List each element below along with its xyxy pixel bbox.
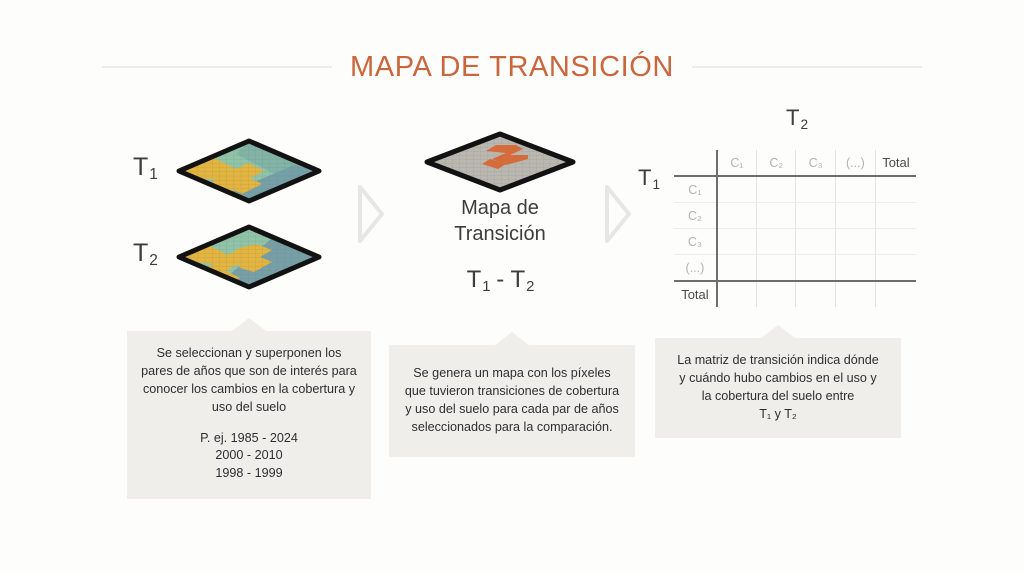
note-matrix-meaning: La matriz de transición indica dónde y c… [655,338,901,438]
note-select-years-example-2: 2000 - 2010 [141,447,357,465]
matrix-table: C₁ C₂ C₃ (...) Total C₁ C₂ [674,150,916,307]
matrix-cell [757,229,796,255]
transition-matrix: T2 T1 C₁ C₂ C₃ (...) Total C₁ C₂ [636,105,916,305]
title-rule-right [692,66,922,68]
matrix-row-header-3: (...) [674,255,717,282]
transition-map-caption-line2: Transición [380,222,620,248]
matrix-cell [757,203,796,229]
note-generate-map-body: Se genera un mapa con los píxeles que tu… [403,365,621,437]
matrix-cell [835,229,875,255]
matrix-cell [875,255,916,282]
matrix-col-header-total: Total [875,150,916,176]
matrix-cell [757,176,796,203]
matrix-row-header-1: C₂ [674,203,717,229]
matrix-col-header-2: C₃ [796,150,835,176]
matrix-cell [835,203,875,229]
note-matrix-meaning-line2: y cuándo hubo cambios en el uso y [679,370,876,388]
matrix-row: (...) [674,255,916,282]
raster-transition-map [424,131,576,193]
transition-map-caption-line1: Mapa de [380,196,620,222]
transition-map-formula: T1 - T2 [380,268,620,292]
matrix-cell [796,203,835,229]
matrix-corner-cell [674,150,717,176]
matrix-cell [835,281,875,307]
raster-layer-t2 [176,224,322,290]
note-select-years-example-1: P. ej. 1985 - 2024 [141,430,357,448]
matrix-cell [835,255,875,282]
matrix-cell [875,229,916,255]
note-generate-map: Se genera un mapa con los píxeles que tu… [389,345,635,457]
note-pointer-icon [495,332,529,345]
matrix-cell [717,281,757,307]
note-select-years: Se seleccionan y superponen los pares de… [127,331,371,499]
matrix-col-header-1: C₂ [757,150,796,176]
note-matrix-meaning-line3: la cobertura del suelo entre [702,388,855,406]
matrix-cell [717,203,757,229]
matrix-cell [757,281,796,307]
layer-label-t2: T2 [133,241,157,266]
matrix-row-header-2: C₃ [674,229,717,255]
matrix-cell [796,281,835,307]
matrix-cell [796,176,835,203]
note-matrix-meaning-line1: La matriz de transición indica dónde [677,352,879,370]
matrix-col-header-3: (...) [835,150,875,176]
matrix-header-row: C₁ C₂ C₃ (...) Total [674,150,916,176]
matrix-cell [875,176,916,203]
note-pointer-icon [761,325,795,338]
matrix-col-header-0: C₁ [717,150,757,176]
note-matrix-meaning-line4: T₁ y T₂ [759,406,797,424]
note-select-years-body: Se seleccionan y superponen los pares de… [141,345,357,417]
matrix-cell [796,255,835,282]
flow-chevron-2 [605,185,631,243]
matrix-row-header-total: Total [674,281,717,307]
raster-layer-t1 [176,138,322,204]
matrix-row-group-label: T1 [638,165,659,191]
matrix-column-group-label: T2 [786,105,807,131]
note-select-years-example-3: 1998 - 1999 [141,465,357,483]
matrix-cell [717,176,757,203]
note-pointer-icon [232,318,266,331]
matrix-cell [835,176,875,203]
title-row: MAPA DE TRANSICIÓN [0,48,1024,86]
matrix-row-header-0: C₁ [674,176,717,203]
matrix-row: C₂ [674,203,916,229]
matrix-row: C₃ [674,229,916,255]
matrix-cell [875,281,916,307]
page-title: MAPA DE TRANSICIÓN [350,51,674,84]
matrix-cell [717,255,757,282]
matrix-cell [875,203,916,229]
matrix-cell [757,255,796,282]
layer-label-t1: T1 [133,155,157,180]
title-rule-left [102,66,332,68]
matrix-cell [796,229,835,255]
matrix-total-row: Total [674,281,916,307]
matrix-cell [717,229,757,255]
matrix-row: C₁ [674,176,916,203]
transition-map-caption: Mapa de Transición [380,196,620,247]
